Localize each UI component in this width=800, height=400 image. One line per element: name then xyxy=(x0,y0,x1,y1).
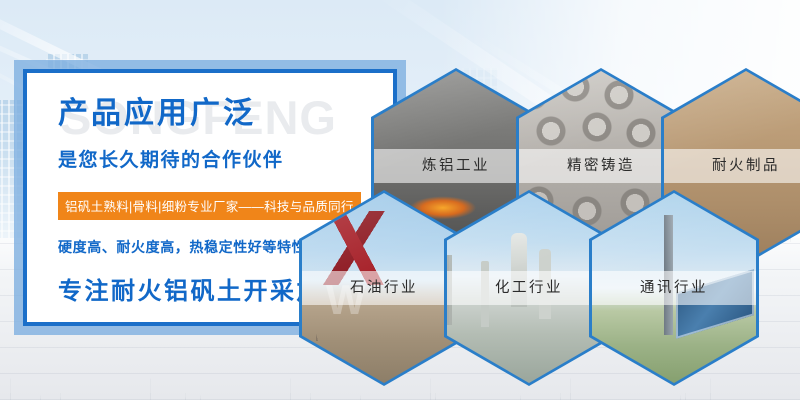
hex-label: 石油行业 xyxy=(302,271,466,305)
promo-banner: SONGFENG 产品应用广泛 是您长久期待的合作伙伴 铝矾土熟料|骨料|细粉专… xyxy=(0,0,800,400)
hex-label: 通讯行业 xyxy=(592,271,756,305)
hex-label: 耐火制品 xyxy=(664,149,800,183)
hex-label: 化工行业 xyxy=(447,271,611,305)
hexagon-gallery: 炼铝工业 精密铸造 耐火制品 W 石油行业 xyxy=(0,0,800,400)
hex-label: 炼铝工业 xyxy=(374,149,538,183)
hex-label: 精密铸造 xyxy=(519,149,683,183)
